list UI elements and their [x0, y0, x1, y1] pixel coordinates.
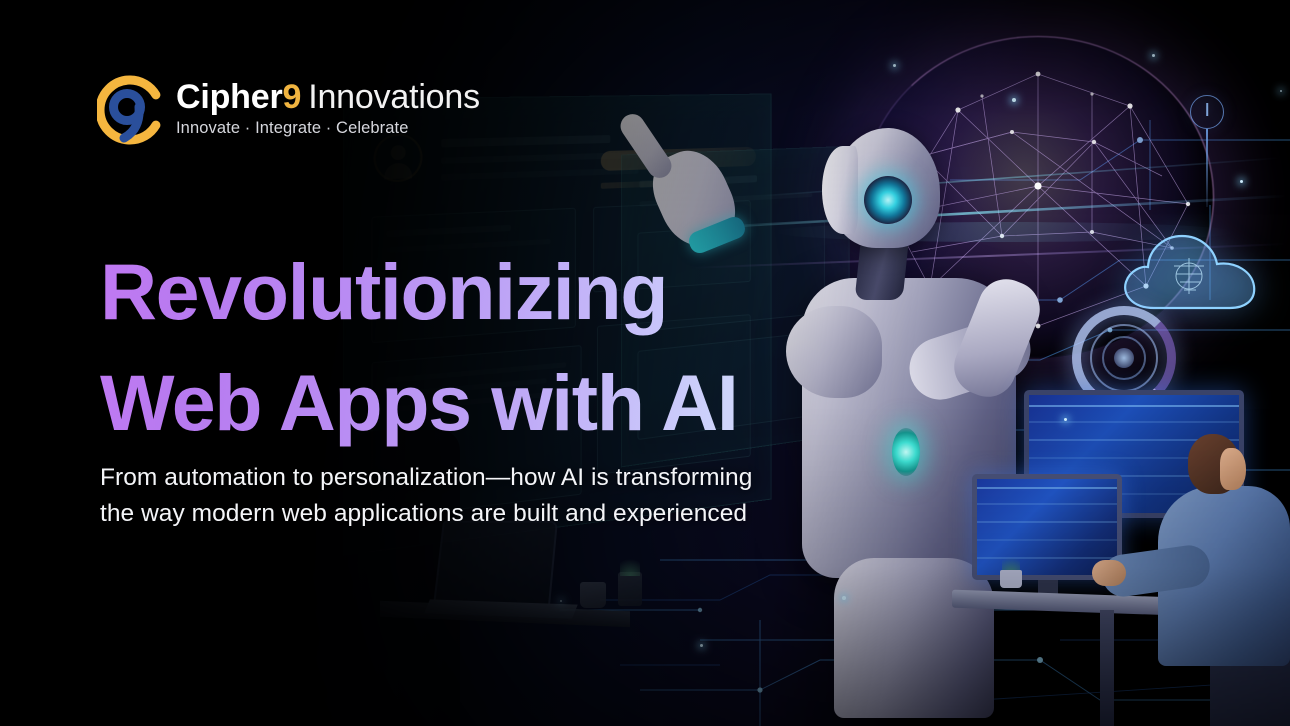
hero-content: Cipher9Innovations Innovate · Integrate …: [0, 0, 1290, 726]
brand-word-primary: Cipher: [176, 78, 282, 116]
hero-banner: Cipher9Innovations Innovate · Integrate …: [0, 0, 1290, 726]
headline-line-2: Web Apps with AI: [100, 347, 800, 458]
brand-wordmark: Cipher9Innovations: [176, 78, 480, 116]
page-title: RevolutionizingWeb Apps with AI: [100, 236, 800, 458]
cipher9-logo-mark-icon: [97, 74, 163, 146]
brand-word-numeral: 9: [282, 78, 301, 116]
brand-logo-text: Cipher9Innovations Innovate · Integrate …: [176, 74, 480, 138]
brand-tagline: Innovate · Integrate · Celebrate: [176, 118, 480, 138]
brand-word-secondary: Innovations: [308, 78, 480, 116]
hero-subtitle: From automation to personalization—how A…: [100, 460, 760, 532]
headline-line-1: Revolutionizing: [100, 247, 667, 336]
brand-logo[interactable]: Cipher9Innovations Innovate · Integrate …: [97, 74, 480, 146]
